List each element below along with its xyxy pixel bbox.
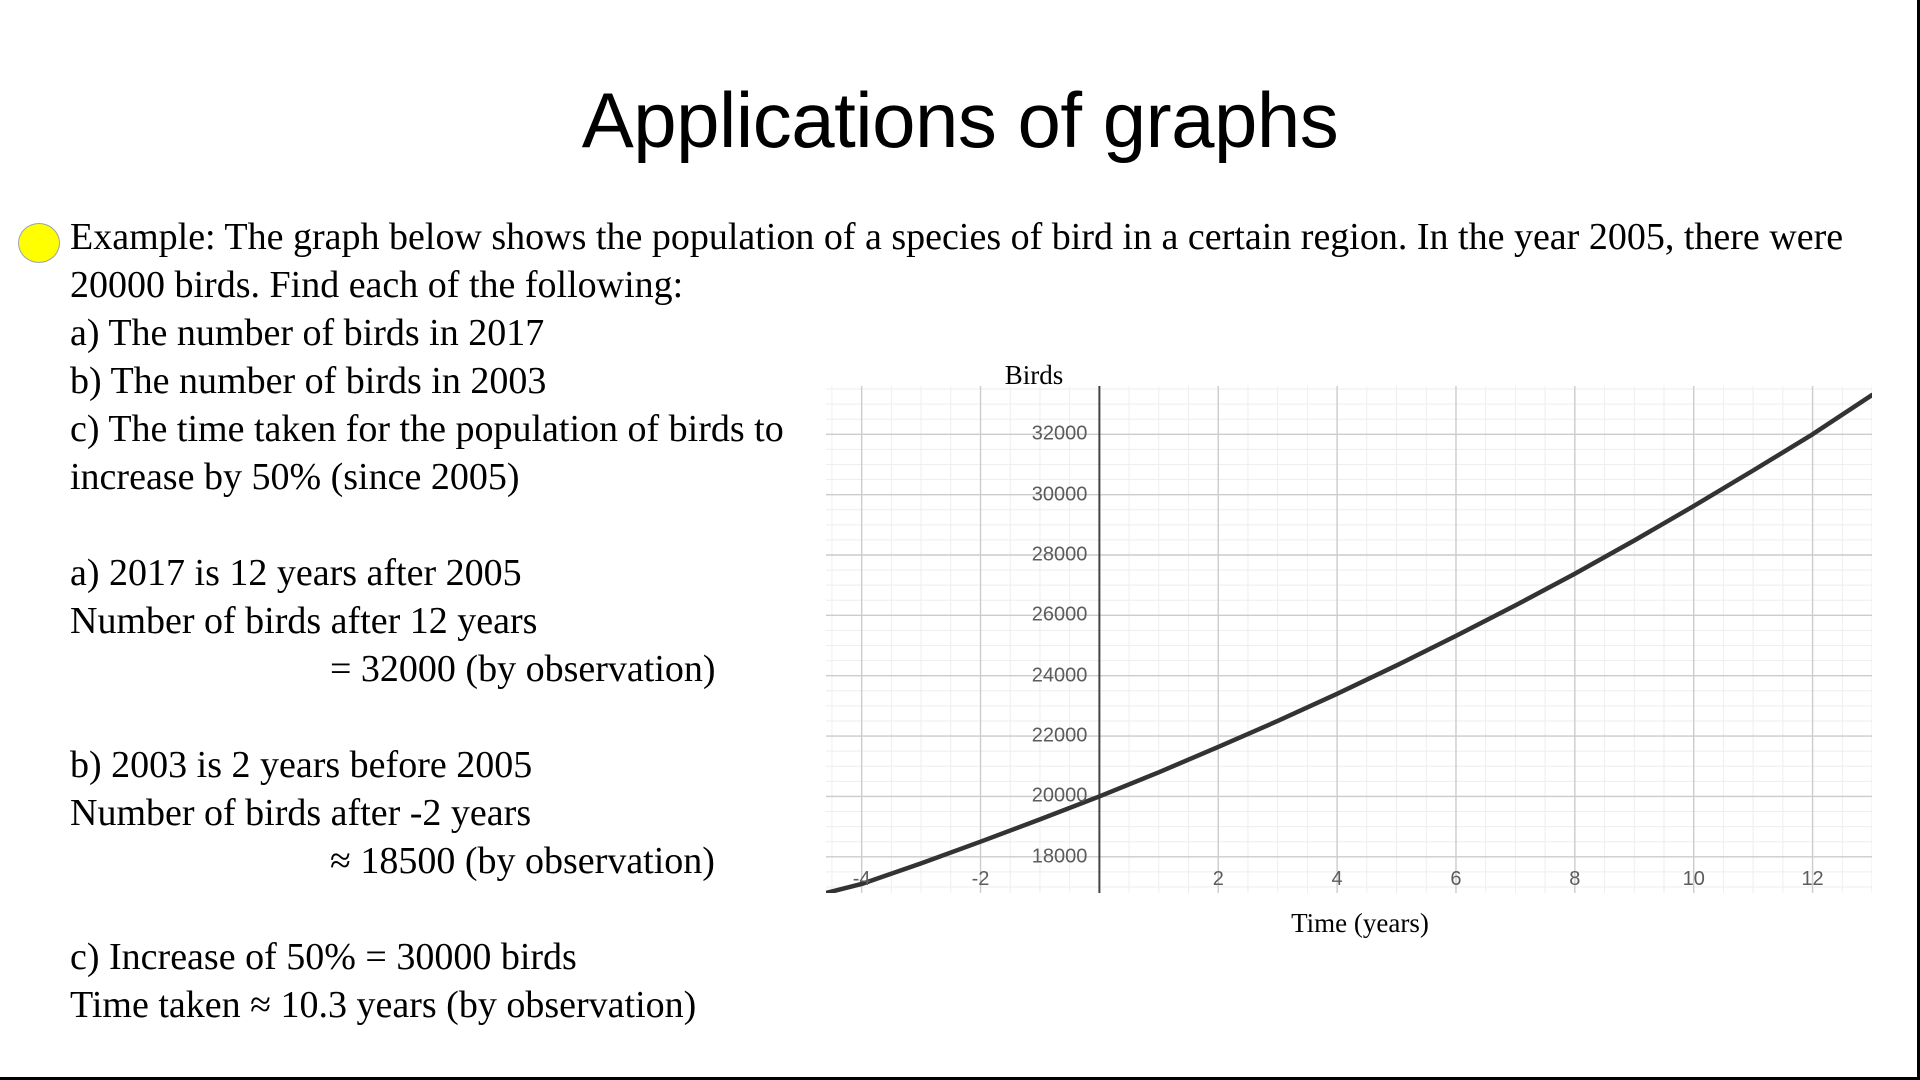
chart-x-tick-label: 8 xyxy=(1545,868,1605,891)
answer-c-line1: c) Increase of 50% = 30000 birds xyxy=(70,933,1858,981)
chart-x-axis-title: Time (years) xyxy=(1180,908,1540,938)
answer-c-block: c) Increase of 50% = 30000 birds Time ta… xyxy=(18,933,1858,1029)
intro-text: Example: The graph below shows the popul… xyxy=(70,213,1858,309)
answer-c-line2: Time taken ≈ 10.3 years (by observation) xyxy=(70,981,1858,1029)
slide-canvas: Applications of graphs Example: The grap… xyxy=(0,0,1920,1080)
question-c: c) The time taken for the population of … xyxy=(70,405,870,501)
chart-y-tick-label: 26000 xyxy=(987,604,1087,627)
question-b: b) The number of birds in 2003 xyxy=(70,357,870,405)
chart-x-tick-label: 12 xyxy=(1783,868,1843,891)
chart-x-tick-label: 4 xyxy=(1307,868,1367,891)
chart-y-tick-label: 24000 xyxy=(987,664,1087,687)
page-title: Applications of graphs xyxy=(0,78,1920,162)
bullet-paragraph: Example: The graph below shows the popul… xyxy=(18,213,1858,309)
chart-plot-area xyxy=(826,386,1872,893)
chart-x-tick-label: 2 xyxy=(1188,868,1248,891)
chart-y-tick-label: 30000 xyxy=(987,483,1087,506)
chart-x-tick-label: -4 xyxy=(832,868,892,891)
chart-y-tick-label: 28000 xyxy=(987,544,1087,567)
bird-population-chart: 1800020000220002400026000280003000032000… xyxy=(826,386,1872,893)
yellow-circle-bullet-icon xyxy=(18,223,60,263)
chart-svg xyxy=(826,386,1872,893)
chart-y-tick-label: 32000 xyxy=(987,423,1087,446)
question-a: a) The number of birds in 2017 xyxy=(70,309,870,357)
chart-x-tick-label: 6 xyxy=(1426,868,1486,891)
chart-x-tick-label: -2 xyxy=(951,868,1011,891)
chart-y-tick-label: 18000 xyxy=(987,845,1087,868)
chart-y-tick-label: 20000 xyxy=(987,785,1087,808)
chart-y-tick-label: 22000 xyxy=(987,725,1087,748)
chart-x-tick-label: 10 xyxy=(1664,868,1724,891)
